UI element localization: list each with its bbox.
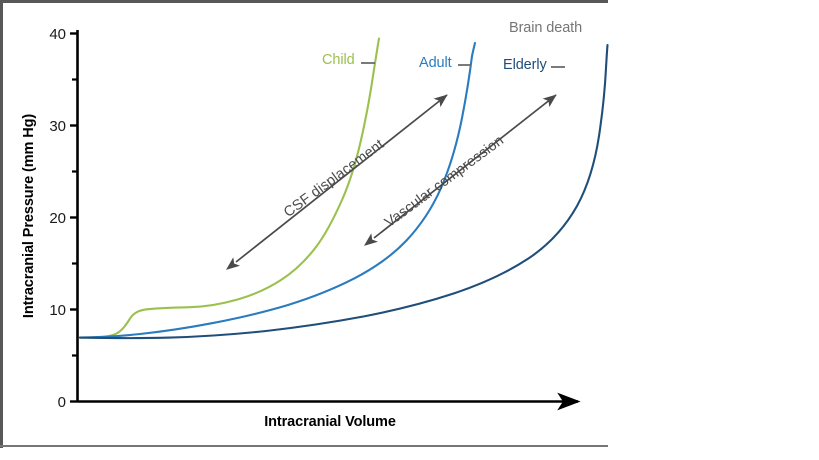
curve-label-elderly: Elderly	[503, 57, 547, 73]
intracranial-pressure-volume-figure: 0 10 20 30 40 Intracranial Pressure (mm …	[0, 0, 819, 460]
y-tick-label-20: 20	[36, 211, 66, 226]
y-tick-label-30: 30	[36, 119, 66, 134]
curve-adult	[80, 43, 475, 338]
curve-label-child: Child	[322, 52, 355, 68]
y-tick-label-40: 40	[36, 27, 66, 42]
plot-area	[0, 0, 819, 460]
y-tick-label-10: 10	[36, 303, 66, 318]
y-tick-label-0: 0	[36, 395, 66, 410]
y-axis-title: Intracranial Pressure (mm Hg)	[21, 86, 37, 346]
annotation-label-brain-death: Brain death	[509, 20, 582, 36]
curve-label-adult: Adult	[419, 55, 452, 71]
x-axis-title: Intracranial Volume	[190, 414, 470, 430]
curve-elderly	[80, 45, 608, 338]
